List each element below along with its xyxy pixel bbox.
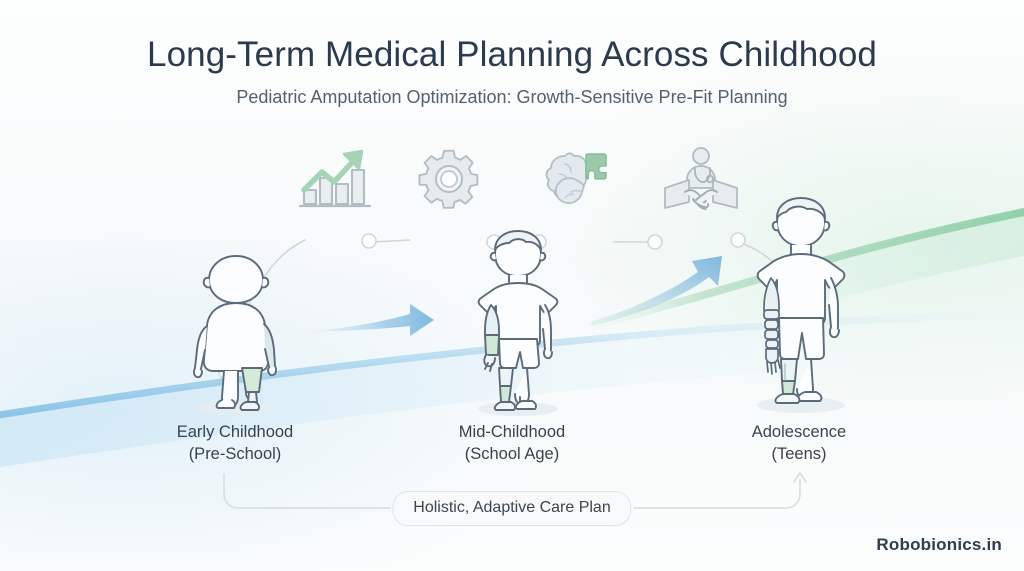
page-subtitle: Pediatric Amputation Optimization: Growt… <box>0 87 1024 108</box>
stage-label-line2: (Teens) <box>679 443 919 465</box>
care-plan-caption: Holistic, Adaptive Care Plan <box>392 491 631 526</box>
figure-mid-childhood <box>455 225 581 417</box>
gear-icon <box>418 148 480 210</box>
stage-label-mid-childhood: Mid-Childhood (School Age) <box>392 421 632 466</box>
stage-label-line2: (Pre-School) <box>115 443 355 465</box>
transition-arrow-2 <box>588 252 728 328</box>
growth-chart-icon <box>296 146 374 210</box>
infographic-canvas: Long-Term Medical Planning Across Childh… <box>0 0 1024 571</box>
doctor-handshake-icon <box>663 146 739 212</box>
stage-label-early-childhood: Early Childhood (Pre-School) <box>115 421 355 466</box>
brain-puzzle-icon <box>545 150 615 210</box>
stage-label-line1: Early Childhood <box>115 421 355 443</box>
stage-label-adolescence: Adolescence (Teens) <box>679 421 919 466</box>
stage-label-line2: (School Age) <box>392 443 632 465</box>
figure-adolescence <box>735 192 865 414</box>
stage-label-line1: Mid-Childhood <box>392 421 632 443</box>
stage-label-line1: Adolescence <box>679 421 919 443</box>
watermark: Robobionics.in <box>876 535 1002 555</box>
transition-arrow-1 <box>306 298 436 350</box>
figure-early-childhood <box>172 250 298 416</box>
page-title: Long-Term Medical Planning Across Childh… <box>0 36 1024 75</box>
